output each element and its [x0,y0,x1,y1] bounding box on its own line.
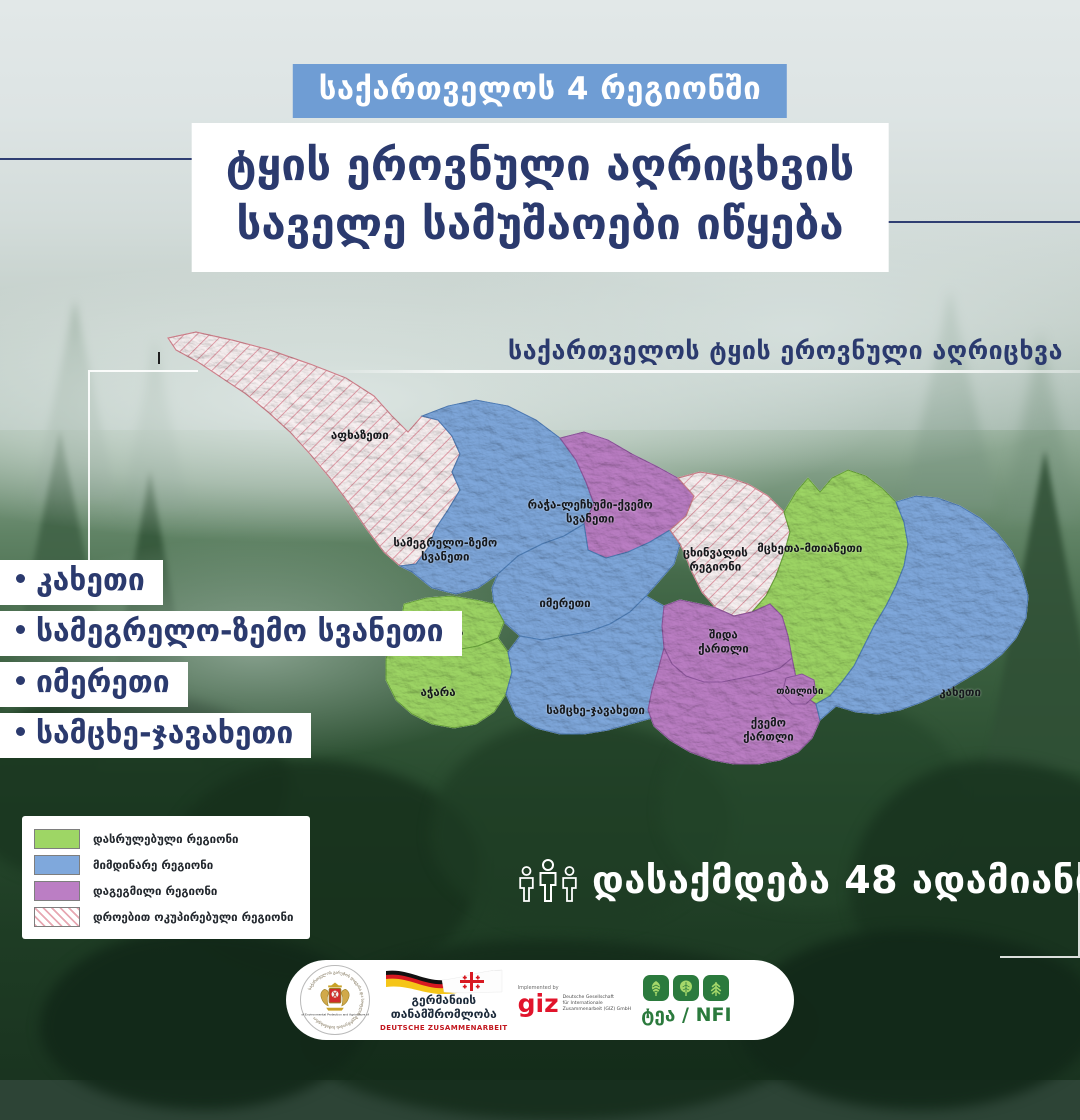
list-item: სამეგრელო-ზემო სვანეთი [0,611,462,656]
bullet-dot [16,574,25,583]
map-label-kvemo-kartli: ქვემო ქართლი [743,715,794,744]
map-label-shida-kartli: შიდა ქართლი [698,628,749,657]
map-legend: დასრულებული რეგიონი მიმდინარე რეგიონი და… [22,816,310,939]
three-people-icon [518,859,578,902]
person-icon [518,866,535,902]
deutsche-label-line1: გერმანიის [411,994,476,1008]
giz-description: Deutsche Gesellschaft für Internationale… [563,995,631,1014]
person-icon [538,859,558,902]
bullet-dot [16,676,25,685]
legend-swatch-finished [34,829,80,849]
legend-label-occupied: დროებით ოკუპირებული რეგიონი [93,910,294,924]
nfi-logo: ტეა / NFI [641,975,731,1026]
employment-statistic: დასაქმდება 48 ადამიანი [518,858,1080,902]
deutsche-label-line2: თანამშრომლობა [391,1008,497,1022]
legend-label-finished: დასრულებული რეგიონი [93,832,238,846]
deutsche-label-line3: DEUTSCHE ZUSAMMENARBEIT [380,1024,508,1032]
bullet-dot [16,625,25,634]
legend-label-planned: დაგეგმილი რეგიონი [93,884,217,898]
deutsche-zusammenarbeit-logo: გერმანიის თანამშრომლობა DEUTSCHE ZUSAMME… [380,968,508,1032]
legend-row-occupied: დროებით ოკუპირებული რეგიონი [34,905,294,928]
legend-row-finished: დასრულებული რეგიონი [34,827,294,850]
ministry-logo: საქართველოს გარემოს დაცვისა და სოფლის მე… [300,965,370,1035]
flag-ribbon-icon [384,968,504,994]
nfi-caption: ტეა / NFI [641,1004,731,1026]
list-item: სამცხე-ჯავახეთი [0,713,311,758]
map-label-kakheti: კახეთი [939,685,981,699]
page-title: ტყის ეროვნული აღრიცხვის საველე სამუშაოებ… [192,123,889,272]
region-abkhazeti [168,332,460,566]
list-item: იმერეთი [0,662,188,707]
page-title-line1: ტყის ეროვნული აღრიცხვის [226,137,855,196]
legend-row-planned: დაგეგმილი რეგიონი [34,879,294,902]
legend-swatch-ongoing [34,855,80,875]
tree-icon [673,975,699,1001]
german-georgian-flag-ribbon [384,968,504,994]
map-label-tskhinvali: ცხინვალის რეგიონი [683,546,748,575]
person-icon [561,866,578,902]
legend-swatch-occupied [34,907,80,927]
footer-logo-bar: საქართველოს გარემოს დაცვისა და სოფლის მე… [286,960,794,1040]
bullet-dot [16,727,25,736]
giz-wordmark-row: giz Deutsche Gesellschaft für Internatio… [518,993,631,1014]
list-item: კახეთი [0,560,163,605]
giz-logo: Implemented by giz Deutsche Gesellschaft… [518,985,631,1014]
legend-swatch-planned [34,881,80,901]
highlighted-regions-list: კახეთი სამეგრელო-ზემო სვანეთი იმერეთი სა… [0,560,462,764]
conifer-icon [703,975,729,1001]
map-label-abkhazeti: აფხაზეთი [331,428,389,442]
giz-wordmark: giz [518,993,559,1014]
employment-statistic-text: დასაქმდება 48 ადამიანი [592,858,1080,902]
nfi-icon-row [643,975,729,1001]
leaf-icon [643,975,669,1001]
map-label-imereti: იმერეთი [539,596,590,610]
map-label-samtskhe: სამცხე-ჯავახეთი [546,703,645,717]
legend-row-ongoing: მიმდინარე რეგიონი [34,853,294,876]
map-label-racha: რაჭა-ლეჩხუმი-ქვემო სვანეთი [528,497,653,526]
georgia-coat-of-arms-emblem: საქართველოს გარემოს დაცვისა და სოფლის მე… [300,965,370,1035]
map-label-tbilisi: თბილისი [776,686,823,699]
page-title-line2: საველე სამუშაოები იწყება [226,196,855,255]
eyebrow-banner: საქართველოს 4 რეგიონში [293,64,787,118]
legend-label-ongoing: მიმდინარე რეგიონი [93,858,213,872]
svg-text:Ministry of Environmental Prot: Ministry of Environmental Protection and… [301,1013,369,1017]
emblem-shield: Ministry of Environmental Protection and… [301,966,369,1034]
map-label-mtskheta: მცხეთა-მთიანეთი [757,541,862,555]
